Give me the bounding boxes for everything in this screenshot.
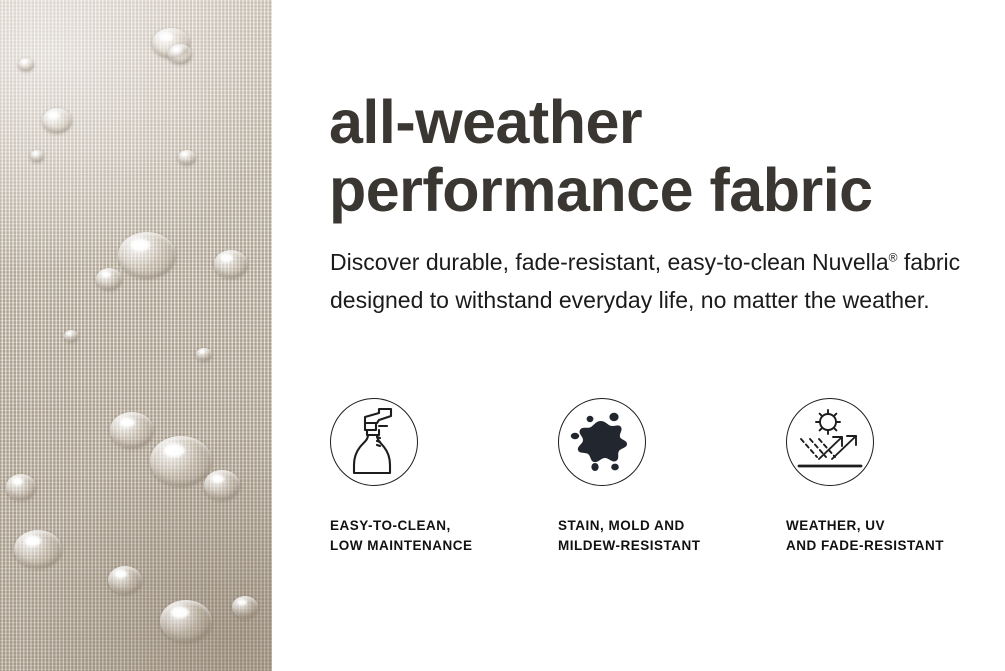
feature-item: WEATHER, UV AND FADE-RESISTANT [786,398,1005,556]
icon-circle [558,398,646,486]
water-droplet [178,150,196,165]
water-droplet [30,150,44,162]
feature-item: EASY-TO-CLEAN, LOW MAINTENANCE [330,398,558,556]
brand-name: Nuvella [812,249,889,275]
water-droplet [204,470,240,500]
water-droplet [160,600,212,642]
feature-caption: STAIN, MOLD AND MILDEW-RESISTANT [558,516,786,556]
water-droplet [42,108,72,133]
content-panel: all-weatherperformance fabric Discover d… [272,0,1005,671]
icon-circle [330,398,418,486]
water-droplet [232,596,258,618]
water-droplet [150,436,212,486]
spray-bottle-icon [343,407,405,477]
page-title: all-weatherperformance fabric [329,88,989,224]
water-droplet [108,566,142,594]
water-droplet [6,474,36,500]
body-copy-part-1: Discover durable, fade-resistant, easy-t… [330,249,806,275]
registered-trademark-symbol: ® [889,250,898,264]
icon-circle [786,398,874,486]
headline-line-2: performance fabric [329,156,873,224]
water-droplet [196,348,212,361]
headline-line-1: all-weather [329,88,642,156]
water-droplet [14,530,62,568]
feature-caption: WEATHER, UV AND FADE-RESISTANT [786,516,1005,556]
feature-item: STAIN, MOLD AND MILDEW-RESISTANT [558,398,786,556]
all-weather-fabric-banner: all-weatherperformance fabric Discover d… [0,0,1005,671]
water-droplet [168,44,192,64]
water-droplet [110,412,154,448]
sun-uv-reflect-icon [795,409,865,475]
body-copy: Discover durable, fade-resistant, easy-t… [330,243,970,319]
stain-splat-icon [570,412,634,472]
fabric-photo [0,0,272,671]
feature-list: EASY-TO-CLEAN, LOW MAINTENANCE STAIN, MO… [330,398,1005,556]
water-droplet [18,58,34,71]
water-droplet [118,232,176,278]
water-droplet [214,250,248,278]
water-droplet [64,330,78,342]
water-droplet [96,268,122,290]
feature-caption: EASY-TO-CLEAN, LOW MAINTENANCE [330,516,558,556]
